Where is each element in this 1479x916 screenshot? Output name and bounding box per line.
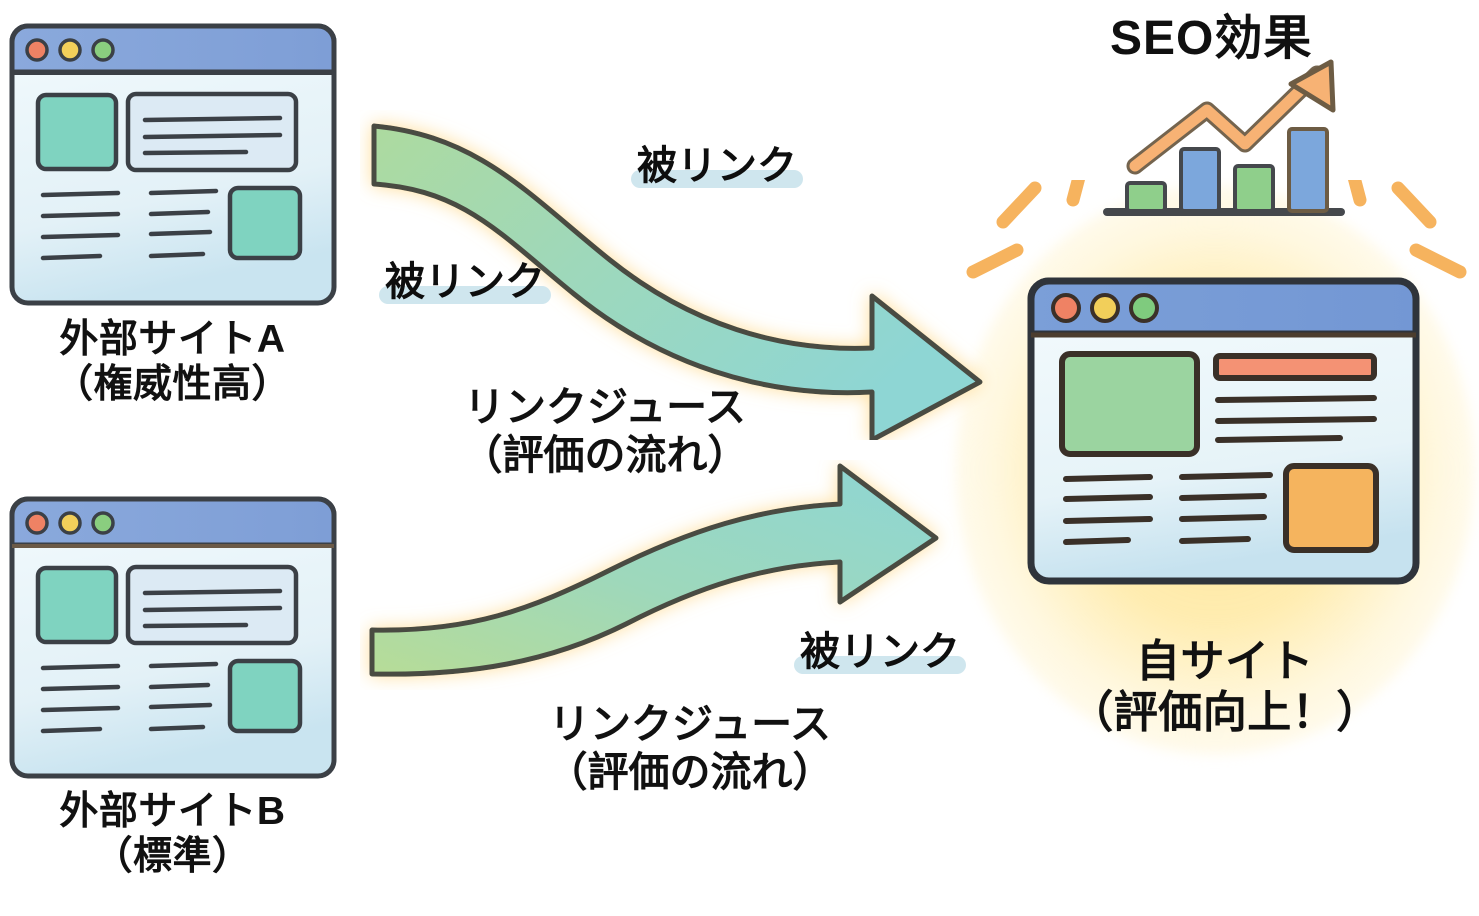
- thumb-block: [38, 568, 116, 642]
- own-site-window[interactable]: [1026, 276, 1421, 586]
- window-dot-red: [27, 40, 47, 60]
- own-site-label-line1: 自サイト: [1030, 637, 1420, 688]
- side-block: [230, 188, 300, 258]
- text-panel: [128, 94, 296, 170]
- headline-bar: [1216, 356, 1374, 378]
- external-site-b-caption: 外部サイトB （標準）: [0, 790, 345, 880]
- link-juice-lower-line1: リンクジュース: [505, 700, 875, 748]
- cta-block: [1286, 466, 1376, 550]
- backlink-label-top: 被リンク: [637, 146, 797, 186]
- window-dot-green: [93, 40, 113, 60]
- external-site-a-caption: 外部サイトA （権威性高）: [0, 318, 345, 408]
- hero-block: [1062, 354, 1197, 454]
- chart-bar-4: [1289, 129, 1327, 211]
- window-dot-green: [93, 513, 113, 533]
- sparkle-ray-left-2: [1003, 188, 1035, 222]
- link-juice-label-upper: リンクジュース （評価の流れ）: [420, 383, 790, 480]
- window-dot-red: [27, 513, 47, 533]
- site-b-label-line1: 外部サイトB: [0, 790, 345, 835]
- site-a-label-line1: 外部サイトA: [0, 318, 345, 363]
- backlink-label-mid-text: 被リンク: [385, 260, 545, 304]
- own-site-label-line2: （評価向上！）: [1030, 688, 1420, 739]
- external-site-a-window[interactable]: [8, 22, 338, 307]
- chart-bar-3: [1235, 166, 1273, 211]
- window-dot-yellow: [60, 40, 80, 60]
- window-dot-yellow: [1092, 295, 1118, 321]
- backlink-label-bottom-text: 被リンク: [800, 630, 960, 674]
- external-site-b-window[interactable]: [8, 495, 338, 780]
- link-juice-upper-line1: リンクジュース: [420, 383, 790, 431]
- link-juice-upper-line2: （評価の流れ）: [420, 431, 790, 479]
- window-dot-green: [1131, 295, 1157, 321]
- site-b-label-line2: （標準）: [0, 835, 345, 880]
- thumb-block: [38, 95, 116, 169]
- window-dot-yellow: [60, 513, 80, 533]
- own-site-caption: 自サイト （評価向上！）: [1030, 637, 1420, 738]
- text-panel: [128, 567, 296, 643]
- chart-bar-2: [1181, 149, 1219, 211]
- chart-bar-1: [1127, 183, 1165, 211]
- site-a-label-line2: （権威性高）: [0, 363, 345, 408]
- side-block: [230, 661, 300, 731]
- link-juice-label-lower: リンクジュース （評価の流れ）: [505, 700, 875, 797]
- backlink-label-mid-left: 被リンク: [385, 262, 545, 302]
- sparkle-ray-right-1: [1416, 250, 1460, 272]
- diagram-canvas: SEO効果: [0, 0, 1479, 916]
- backlink-label-bottom: 被リンク: [800, 632, 960, 672]
- sparkle-ray-left-3: [1073, 180, 1083, 200]
- backlink-label-top-text: 被リンク: [637, 144, 797, 188]
- window-dot-red: [1053, 295, 1079, 321]
- seo-bar-chart: [1095, 48, 1405, 248]
- link-juice-lower-line2: （評価の流れ）: [505, 748, 875, 796]
